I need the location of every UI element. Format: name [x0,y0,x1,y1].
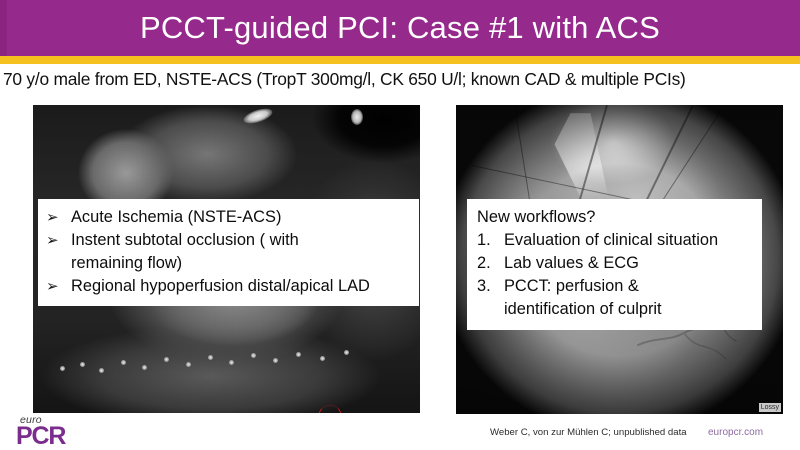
finding-item-1: ➢ Acute Ischemia (NSTE-ACS) [46,206,413,229]
arrow-bullet-icon: ➢ [46,206,71,229]
workflow-item-1-text: Evaluation of clinical situation [504,229,756,252]
workflow-item-2-text: Lab values & ECG [504,252,756,275]
finding-item-2-text: Instent subtotal occlusion ( with [71,229,413,252]
workflow-item-3-continuation: identification of culprit [477,298,756,321]
finding-item-2: ➢ Instent subtotal occlusion ( with [46,229,413,252]
gold-accent-bar [0,56,800,64]
workflow-item-1: 1. Evaluation of clinical situation [477,229,756,252]
workflow-textbox: New workflows? 1. Evaluation of clinical… [467,199,762,330]
finding-item-1-text: Acute Ischemia (NSTE-ACS) [71,206,413,229]
lossy-compression-label: Lossy [759,403,781,412]
finding-item-3-text: Regional hypoperfusion distal/apical LAD [71,275,413,298]
workflow-item-2: 2. Lab values & ECG [477,252,756,275]
finding-item-3: ➢ Regional hypoperfusion distal/apical L… [46,275,413,298]
arrow-bullet-icon: ➢ [46,275,71,298]
workflow-item-3-number: 3. [477,275,504,298]
europcr-logo: euro PCR [16,414,88,448]
workflow-item-3: 3. PCCT: perfusion & [477,275,756,298]
case-subtitle: 70 y/o male from ED, NSTE-ACS (TropT 300… [3,69,797,90]
arrow-bullet-icon: ➢ [46,229,71,252]
website-link[interactable]: europcr.com [708,427,763,438]
ct-findings-textbox: ➢ Acute Ischemia (NSTE-ACS) ➢ Instent su… [38,199,419,306]
workflow-item-1-number: 1. [477,229,504,252]
workflow-heading: New workflows? [477,206,756,229]
workflow-item-2-number: 2. [477,252,504,275]
source-credit: Weber C, von zur Mühlen C; unpublished d… [490,427,687,438]
logo-pcr-text: PCR [16,424,65,449]
workflow-item-3-text: PCCT: perfusion & [504,275,756,298]
page-title: PCCT-guided PCI: Case #1 with ACS [0,0,800,56]
finding-item-2-continuation: remaining flow) [46,252,413,275]
